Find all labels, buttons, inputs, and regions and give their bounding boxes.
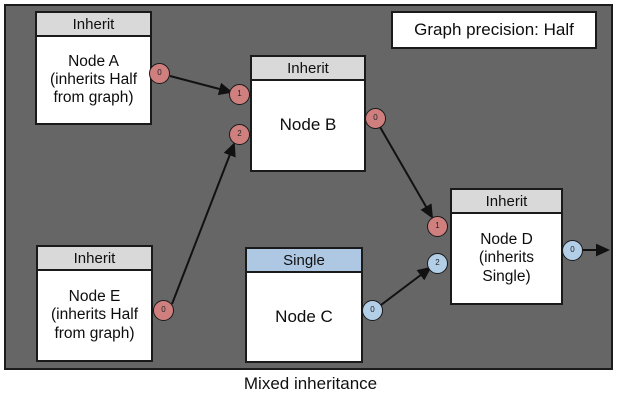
node-b-body: Node B (252, 81, 364, 170)
node-node-e[interactable]: Inherit Node E (inherits Half from graph… (36, 245, 153, 362)
node-node-d[interactable]: Inherit Node D (inherits Single) (450, 188, 563, 305)
port-node-d-out-0[interactable]: 0 (562, 240, 583, 261)
node-a-detail-line-2: from graph) (50, 89, 137, 107)
node-d-detail-line-2: Single) (479, 268, 534, 286)
node-c-header: Single (247, 249, 361, 273)
node-node-c[interactable]: Single Node C (245, 247, 363, 363)
node-d-header: Inherit (452, 190, 561, 214)
node-b-header: Inherit (252, 57, 364, 81)
graph-precision-box: Graph precision: Half (391, 11, 597, 49)
node-e-body: Node E (inherits Half from graph) (38, 271, 151, 360)
port-node-e-out-0[interactable]: 0 (153, 300, 174, 321)
node-node-b[interactable]: Inherit Node B (250, 55, 366, 172)
node-a-title: Node A (50, 53, 137, 71)
diagram-caption: Mixed inheritance (0, 374, 621, 394)
port-node-b-in-2[interactable]: 2 (229, 124, 250, 145)
node-e-detail-line-1: (inherits Half (51, 306, 138, 324)
node-d-title: Node D (479, 231, 534, 249)
port-node-d-in-1[interactable]: 1 (427, 216, 448, 237)
port-node-b-in-1[interactable]: 1 (229, 84, 250, 105)
node-a-detail-line-1: (inherits Half (50, 71, 137, 89)
node-c-body: Node C (247, 273, 361, 361)
diagram-canvas: Inherit Node A (inherits Half from graph… (0, 0, 621, 416)
node-e-title: Node E (51, 288, 138, 306)
node-e-header: Inherit (38, 247, 151, 271)
port-node-b-out-0[interactable]: 0 (365, 108, 386, 129)
graph-precision-label: Graph precision: Half (414, 20, 574, 40)
port-node-a-out-0[interactable]: 0 (149, 63, 170, 84)
node-a-body: Node A (inherits Half from graph) (37, 37, 150, 123)
node-d-body: Node D (inherits Single) (452, 214, 561, 303)
node-node-a[interactable]: Inherit Node A (inherits Half from graph… (35, 11, 152, 125)
node-d-detail-line-1: (inherits (479, 249, 534, 267)
port-node-d-in-2[interactable]: 2 (427, 253, 448, 274)
node-e-detail-line-2: from graph) (51, 325, 138, 343)
node-a-header: Inherit (37, 13, 150, 37)
port-node-c-out-0[interactable]: 0 (362, 300, 383, 321)
